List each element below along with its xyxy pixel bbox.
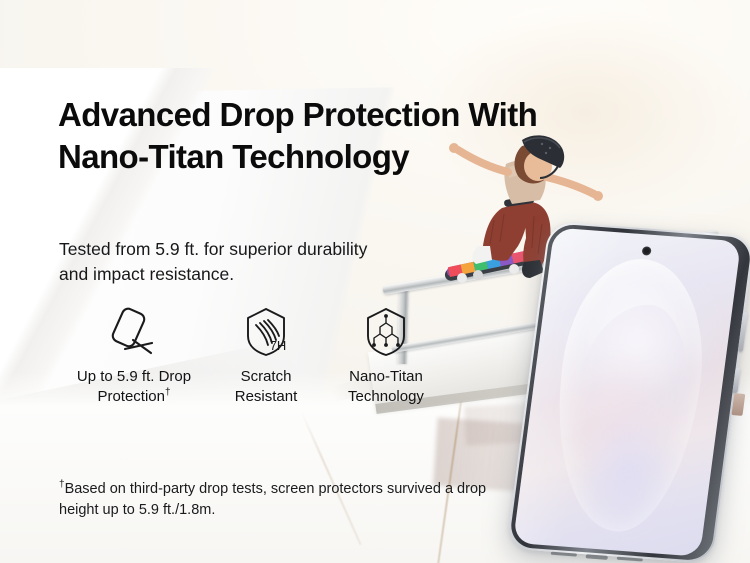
feature-label: Scratch Resistant <box>235 367 298 407</box>
feature-label-line1: Up to 5.9 ft. Drop <box>77 368 191 385</box>
feature-label-line2: Technology <box>348 388 424 405</box>
feature-label: Up to 5.9 ft. Drop Protection† <box>77 367 191 407</box>
banner-copy: Advanced Drop Protection With Nano-Titan… <box>58 0 558 563</box>
subheadline: Tested from 5.9 ft. for superior durabil… <box>59 237 389 287</box>
footnote-text: †Based on third-party drop tests, screen… <box>59 479 499 521</box>
microphone-grille-icon <box>617 557 643 562</box>
phone-drop-icon <box>106 305 162 359</box>
usb-c-port-icon <box>586 554 608 560</box>
feature-label-line2: Resistant <box>235 388 298 405</box>
headline: Advanced Drop Protection With Nano-Titan… <box>58 94 558 178</box>
shield-scratch-icon: 7H <box>238 305 294 359</box>
feature-nano-titan: Nano-Titan Technology <box>322 303 450 407</box>
scratch-hardness-label: 7H <box>270 338 287 353</box>
feature-icon-wrap: 7H <box>238 303 294 361</box>
shield-molecule-icon <box>358 305 414 359</box>
feature-icon-wrap <box>106 303 162 361</box>
footnote-marker: † <box>165 387 171 398</box>
feature-label-line2: Protection <box>97 388 165 405</box>
promo-banner: Advanced Drop Protection With Nano-Titan… <box>0 0 750 563</box>
feature-label-line1: Scratch <box>241 368 292 385</box>
feature-icon-wrap <box>358 303 414 361</box>
feature-label: Nano-Titan Technology <box>348 367 424 407</box>
feature-label-line1: Nano-Titan <box>349 368 423 385</box>
footnote-body: Based on third-party drop tests, screen … <box>59 481 486 518</box>
feature-drop-protection: Up to 5.9 ft. Drop Protection† <box>58 303 210 407</box>
feature-list: Up to 5.9 ft. Drop Protection† <box>58 303 450 407</box>
feature-scratch-resistant: 7H Scratch Resistant <box>210 303 322 407</box>
